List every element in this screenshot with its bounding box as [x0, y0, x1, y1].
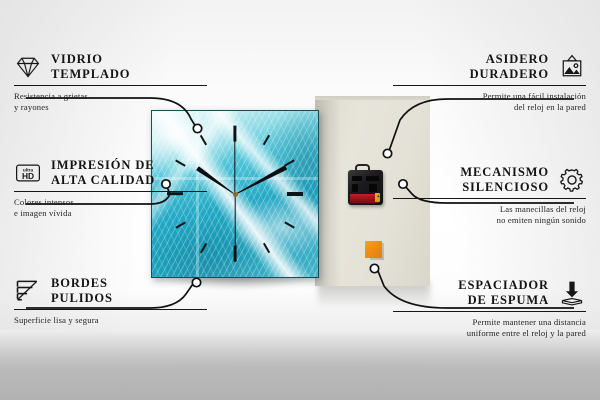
feature-divider	[393, 85, 586, 86]
arrow-down-pad-icon	[558, 279, 586, 307]
feature-title: MECANISMO SILENCIOSO	[460, 165, 549, 194]
feature-vidrio-templado: VIDRIO TEMPLADO Resistencia a grietas y …	[14, 52, 207, 112]
feature-title: VIDRIO TEMPLADO	[51, 52, 130, 81]
feature-header: VIDRIO TEMPLADO	[14, 52, 207, 81]
feature-description: Colores intensos e imagen vívida	[14, 197, 207, 218]
feature-divider	[393, 198, 586, 199]
infographic-stage: +	[0, 0, 600, 400]
feature-header: ultra HD IMPRESIÓN DE ALTA CALIDAD	[14, 158, 207, 187]
feature-description: Permite mantener una distancia uniforme …	[393, 317, 586, 338]
connector-dot-espaciador	[370, 264, 378, 272]
connector-dot-vidrio	[193, 124, 201, 132]
feature-impresion-alta-calidad: ultra HD IMPRESIÓN DE ALTA CALIDAD Color…	[14, 158, 207, 218]
ultra-hd-icon: ultra HD	[14, 159, 42, 187]
feature-divider	[393, 311, 586, 312]
feature-description: Superficie lisa y segura	[14, 315, 207, 326]
connector-dot-asidero	[383, 149, 391, 157]
feature-asidero-duradero: ASIDERO DURADERO Permite una fácil insta…	[393, 52, 586, 112]
feature-bordes-pulidos: BORDES PULIDOS Superficie lisa y segura	[14, 276, 207, 326]
feature-title: ASIDERO DURADERO	[470, 52, 549, 81]
polished-edges-icon	[14, 277, 42, 305]
feature-header: ESPACIADOR DE ESPUMA	[393, 278, 586, 307]
feature-description: Resistencia a grietas y rayones	[14, 91, 207, 112]
feature-description: Las manecillas del reloj no emiten ningú…	[393, 204, 586, 225]
feature-divider	[14, 191, 207, 192]
diamond-icon	[14, 53, 42, 81]
feature-description: Permite una fácil instalación del reloj …	[393, 91, 586, 112]
feature-header: MECANISMO SILENCIOSO	[393, 165, 586, 194]
hanging-frame-icon	[558, 53, 586, 81]
feature-espaciador-de-espuma: ESPACIADOR DE ESPUMA Permite mantener un…	[393, 278, 586, 338]
feature-title: BORDES PULIDOS	[51, 276, 113, 305]
feature-title: IMPRESIÓN DE ALTA CALIDAD	[51, 158, 155, 187]
feature-header: BORDES PULIDOS	[14, 276, 207, 305]
feature-title: ESPACIADOR DE ESPUMA	[458, 278, 549, 307]
feature-divider	[14, 309, 207, 310]
feature-header: ASIDERO DURADERO	[393, 52, 586, 81]
feature-divider	[14, 85, 207, 86]
feature-mecanismo-silencioso: MECANISMO SILENCIOSO Las manecillas del …	[393, 165, 586, 225]
gear-icon	[558, 166, 586, 194]
svg-text:HD: HD	[22, 171, 34, 181]
